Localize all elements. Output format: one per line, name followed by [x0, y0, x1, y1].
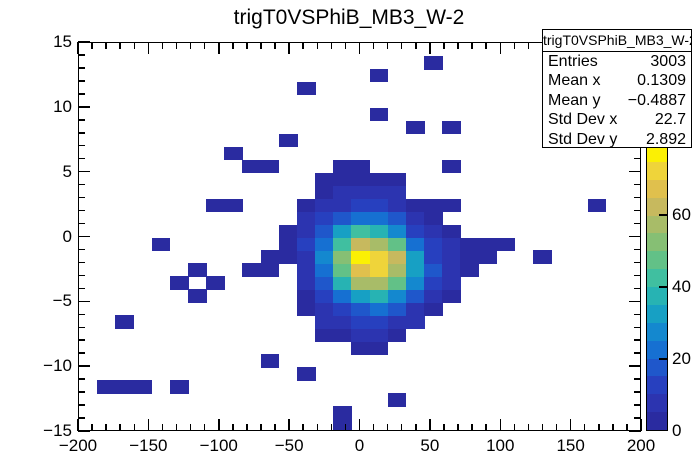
x-axis-tick-label: −100 — [184, 436, 254, 456]
heatmap-cell — [370, 276, 389, 290]
heatmap-cell — [370, 186, 389, 200]
heatmap-cell — [442, 225, 461, 239]
y-axis-minor-tick-right — [634, 314, 641, 316]
heatmap-cell — [406, 212, 425, 226]
heatmap-cell — [97, 380, 116, 394]
y-axis-minor-tick — [78, 391, 85, 393]
y-axis-minor-tick — [78, 67, 85, 69]
heatmap-cell — [442, 160, 461, 174]
x-axis-minor-tick — [317, 424, 319, 431]
heatmap-cell — [588, 199, 607, 213]
color-scale-segment — [647, 376, 667, 394]
heatmap-cell — [388, 225, 407, 239]
color-scale-segment — [647, 340, 667, 358]
heatmap-cell — [333, 276, 352, 290]
color-scale-segment — [647, 358, 667, 376]
heatmap-cell — [315, 315, 334, 329]
heatmap-cell — [460, 238, 479, 252]
heatmap-cell — [460, 250, 479, 264]
y-axis-minor-tick — [78, 93, 85, 95]
color-scale-segment — [647, 251, 667, 269]
y-axis-major-tick — [78, 236, 90, 238]
color-scale-segment — [647, 161, 667, 179]
x-axis-minor-tick — [134, 424, 136, 431]
heatmap-cell — [333, 238, 352, 252]
heatmap-cell — [424, 250, 443, 264]
x-axis-minor-tick — [457, 424, 459, 431]
heatmap-cell — [351, 289, 370, 303]
heatmap-cell — [351, 173, 370, 187]
x-axis-minor-tick-top — [528, 42, 530, 49]
heatmap-cell — [424, 302, 443, 316]
x-axis-minor-tick — [246, 424, 248, 431]
heatmap-cell — [206, 199, 225, 213]
heatmap-cell — [370, 263, 389, 277]
x-axis-tick-label: 150 — [536, 436, 606, 456]
y-axis-tick-label: 0 — [4, 227, 72, 247]
color-scale-tick-label: 60 — [672, 205, 691, 225]
heatmap-cell — [188, 289, 207, 303]
x-axis-major-tick-top — [429, 42, 431, 54]
x-axis-major-tick-top — [288, 42, 290, 54]
y-axis-minor-tick — [78, 339, 85, 341]
heatmap-cell — [388, 173, 407, 187]
stats-row-value: 22.7 — [655, 110, 686, 129]
heatmap-cell — [261, 354, 280, 368]
heatmap-cell — [442, 199, 461, 213]
x-axis-minor-tick — [345, 424, 347, 431]
x-axis-tick-label: −50 — [254, 436, 324, 456]
heatmap-cell — [442, 263, 461, 277]
heatmap-cell — [388, 250, 407, 264]
x-axis-major-tick — [218, 419, 220, 431]
y-axis-minor-tick — [78, 197, 85, 199]
heatmap-cell — [406, 289, 425, 303]
x-axis-minor-tick-top — [176, 42, 178, 49]
y-axis-minor-tick — [78, 210, 85, 212]
heatmap-cell — [279, 250, 298, 264]
heatmap-cell — [460, 263, 479, 277]
heatmap-cell — [406, 225, 425, 239]
x-axis-tick-label: 0 — [325, 436, 395, 456]
x-axis-major-tick-top — [359, 42, 361, 54]
heatmap-cell — [533, 250, 552, 264]
stats-rows: Entries3003Mean x0.1309Mean y−0.4887Std … — [543, 52, 691, 149]
page-title: trigT0VSPhiB_MB3_W-2 — [0, 6, 698, 30]
y-axis-minor-tick — [78, 314, 85, 316]
x-axis-major-tick-top — [148, 42, 150, 54]
x-axis-minor-tick — [232, 424, 234, 431]
heatmap-cell — [297, 276, 316, 290]
x-axis-minor-tick — [542, 424, 544, 431]
stats-box[interactable]: trigT0VSPhiB_MB3_W-2 Entries3003Mean x0.… — [542, 29, 692, 148]
heatmap-cell — [333, 263, 352, 277]
x-axis-major-tick-top — [218, 42, 220, 54]
x-axis-minor-tick-top — [134, 42, 136, 49]
color-scale-tick — [659, 214, 668, 216]
y-axis-minor-tick-right — [634, 184, 641, 186]
color-scale-tick-label: 0 — [672, 421, 681, 441]
stats-row-value: 0.1309 — [637, 71, 686, 90]
heatmap-cell — [351, 276, 370, 290]
x-axis-tick-label: 100 — [465, 436, 535, 456]
x-axis-major-tick — [640, 419, 642, 431]
x-axis-minor-tick-top — [317, 42, 319, 49]
heatmap-cell — [315, 263, 334, 277]
heatmap-cell — [442, 238, 461, 252]
y-axis-major-tick — [78, 430, 90, 432]
heatmap-cell — [297, 367, 316, 381]
y-axis-minor-tick — [78, 249, 85, 251]
heatmap-cell — [297, 212, 316, 226]
heatmap-cell — [333, 406, 352, 420]
x-axis-minor-tick — [584, 424, 586, 431]
heatmap-cell — [370, 225, 389, 239]
y-axis-minor-tick — [78, 80, 85, 82]
y-axis-major-tick — [78, 301, 90, 303]
stats-row: Entries3003 — [543, 52, 691, 71]
heatmap-cell — [442, 250, 461, 264]
heatmap-cell — [351, 315, 370, 329]
stats-row-value: −0.4887 — [628, 91, 686, 110]
color-scale-segment — [647, 269, 667, 287]
y-axis-major-tick — [78, 41, 90, 43]
color-scale-tick-label: 20 — [672, 349, 691, 369]
y-axis-tick-label: 15 — [4, 32, 72, 52]
x-axis-minor-tick — [331, 424, 333, 431]
y-axis-tick-label: −10 — [4, 356, 72, 376]
heatmap-cell — [133, 380, 152, 394]
y-axis-major-tick — [78, 365, 90, 367]
y-axis-minor-tick-right — [634, 262, 641, 264]
heatmap-cell — [351, 238, 370, 252]
x-axis-minor-tick — [387, 424, 389, 431]
color-scale-segment — [647, 233, 667, 251]
heatmap-cell — [206, 276, 225, 290]
heatmap-cell — [370, 315, 389, 329]
heatmap-cell — [115, 380, 134, 394]
heatmap-cell — [351, 212, 370, 226]
heatmap-cell — [333, 315, 352, 329]
heatmap-cell — [370, 302, 389, 316]
x-axis-minor-tick-top — [190, 42, 192, 49]
x-axis-minor-tick — [119, 424, 121, 431]
x-axis-minor-tick-top — [119, 42, 121, 49]
x-axis-minor-tick — [485, 424, 487, 431]
color-scale-segment — [647, 197, 667, 215]
heatmap-cell — [370, 341, 389, 355]
color-scale-segment — [647, 215, 667, 233]
x-axis-minor-tick — [91, 424, 93, 431]
y-axis-minor-tick — [78, 184, 85, 186]
x-axis-minor-tick — [443, 424, 445, 431]
x-axis-minor-tick — [260, 424, 262, 431]
heatmap-cell — [370, 238, 389, 252]
x-axis-minor-tick — [626, 424, 628, 431]
x-axis-minor-tick-top — [302, 42, 304, 49]
y-axis-major-tick-right — [629, 236, 641, 238]
heatmap-cell — [333, 212, 352, 226]
heatmap-cell — [351, 302, 370, 316]
y-axis-minor-tick-right — [634, 391, 641, 393]
heatmap-cell — [424, 212, 443, 226]
y-axis-minor-tick-right — [634, 223, 641, 225]
heatmap-cell — [388, 393, 407, 407]
heatmap-cell — [333, 328, 352, 342]
y-axis-tick-label: 5 — [4, 162, 72, 182]
heatmap-cell — [424, 225, 443, 239]
y-axis-minor-tick-right — [634, 249, 641, 251]
heatmap-cell — [315, 276, 334, 290]
x-axis-minor-tick-top — [443, 42, 445, 49]
heatmap-cell — [333, 186, 352, 200]
heatmap-cell — [370, 69, 389, 83]
heatmap-cell — [188, 263, 207, 277]
heatmap-cell — [297, 238, 316, 252]
heatmap-cell — [370, 108, 389, 122]
x-axis-minor-tick — [373, 424, 375, 431]
y-axis-minor-tick — [78, 288, 85, 290]
heatmap-cell — [424, 199, 443, 213]
heatmap-cell — [351, 199, 370, 213]
x-axis-minor-tick-top — [471, 42, 473, 49]
x-axis-minor-tick-top — [485, 42, 487, 49]
x-axis-minor-tick — [176, 424, 178, 431]
y-axis-major-tick-right — [629, 171, 641, 173]
heatmap-cell — [333, 225, 352, 239]
root-canvas: trigT0VSPhiB_MB3_W-2 −200−150−100−500501… — [0, 0, 698, 476]
y-axis-major-tick-right — [629, 430, 641, 432]
heatmap-cell — [279, 238, 298, 252]
y-axis-minor-tick — [78, 132, 85, 134]
y-axis-minor-tick-right — [634, 197, 641, 199]
heatmap-cell — [370, 289, 389, 303]
heatmap-cell — [315, 302, 334, 316]
x-axis-major-tick — [359, 419, 361, 431]
heatmap-cell — [370, 212, 389, 226]
x-axis-minor-tick — [471, 424, 473, 431]
heatmap-cell — [261, 160, 280, 174]
heatmap-cell — [370, 199, 389, 213]
heatmap-cell — [351, 186, 370, 200]
y-axis-minor-tick-right — [634, 158, 641, 160]
x-axis-minor-tick — [190, 424, 192, 431]
x-axis-minor-tick — [401, 424, 403, 431]
y-axis-minor-tick-right — [634, 327, 641, 329]
heatmap-cell — [479, 238, 498, 252]
x-axis-minor-tick — [514, 424, 516, 431]
y-axis-tick-label: −5 — [4, 291, 72, 311]
stats-row-key: Std Dev x — [548, 110, 617, 129]
heatmap-cell — [388, 186, 407, 200]
y-axis-minor-tick — [78, 404, 85, 406]
heatmap-cell — [315, 250, 334, 264]
heatmap-cell — [442, 121, 461, 135]
heatmap-cell — [315, 289, 334, 303]
y-axis-minor-tick-right — [634, 210, 641, 212]
heatmap-cell — [297, 250, 316, 264]
heatmap-cell — [297, 225, 316, 239]
y-axis-minor-tick — [78, 378, 85, 380]
heatmap-cell — [261, 250, 280, 264]
heatmap-cell — [315, 199, 334, 213]
x-axis-major-tick — [500, 419, 502, 431]
heatmap-cell — [497, 238, 516, 252]
x-axis-major-tick — [77, 419, 79, 431]
heatmap-cell — [261, 263, 280, 277]
x-axis-tick-label: 200 — [606, 436, 676, 456]
y-axis-minor-tick-right — [634, 417, 641, 419]
heatmap-cell — [351, 160, 370, 174]
stats-row: Mean x0.1309 — [543, 71, 691, 90]
x-axis-minor-tick — [162, 424, 164, 431]
x-axis-minor-tick — [204, 424, 206, 431]
heatmap-cell — [424, 238, 443, 252]
heatmap-cell — [388, 276, 407, 290]
stats-row-key: Std Dev y — [548, 130, 617, 149]
heatmap-cell — [442, 276, 461, 290]
x-axis-minor-tick-top — [232, 42, 234, 49]
stats-row-value: 2.892 — [646, 130, 686, 149]
stats-box-title: trigT0VSPhiB_MB3_W-2 — [543, 30, 691, 52]
x-axis-minor-tick-top — [415, 42, 417, 49]
y-axis-minor-tick-right — [634, 339, 641, 341]
y-axis-minor-tick-right — [634, 378, 641, 380]
heatmap-cell — [388, 199, 407, 213]
heatmap-cell — [224, 199, 243, 213]
heatmap-cell — [406, 315, 425, 329]
heatmap-cell — [315, 212, 334, 226]
x-axis-minor-tick-top — [260, 42, 262, 49]
color-scale-tick-label: 40 — [672, 277, 691, 297]
heatmap-cell — [170, 380, 189, 394]
heatmap-cell — [424, 263, 443, 277]
heatmap-cell — [315, 328, 334, 342]
x-axis-minor-tick-top — [331, 42, 333, 49]
x-axis-minor-tick — [302, 424, 304, 431]
x-axis-minor-tick-top — [401, 42, 403, 49]
stats-row-value: 3003 — [650, 52, 686, 71]
x-axis-minor-tick-top — [204, 42, 206, 49]
heatmap-cell — [224, 147, 243, 161]
heatmap-cell — [333, 302, 352, 316]
heatmap-cell — [406, 250, 425, 264]
heatmap-cell — [315, 173, 334, 187]
stats-row: Mean y−0.4887 — [543, 91, 691, 110]
y-axis-minor-tick-right — [634, 288, 641, 290]
x-axis-major-tick — [148, 419, 150, 431]
y-axis-major-tick — [78, 106, 90, 108]
heatmap-cell — [297, 263, 316, 277]
x-axis-major-tick — [288, 419, 290, 431]
x-axis-minor-tick — [612, 424, 614, 431]
color-scale-segment — [647, 394, 667, 412]
color-scale-tick — [659, 286, 668, 288]
x-axis-minor-tick-top — [91, 42, 93, 49]
stats-row-key: Mean x — [548, 71, 600, 90]
stats-row-key: Entries — [548, 52, 598, 71]
y-axis-minor-tick — [78, 262, 85, 264]
heatmap-cell — [297, 302, 316, 316]
y-axis-tick-label: 10 — [4, 97, 72, 117]
heatmap-cell — [242, 263, 261, 277]
heatmap-cell — [242, 160, 261, 174]
heatmap-cell — [424, 276, 443, 290]
heatmap-cell — [297, 289, 316, 303]
heatmap-cell — [279, 225, 298, 239]
heatmap-cell — [388, 212, 407, 226]
heatmap-cell — [297, 199, 316, 213]
heatmap-cell — [424, 56, 443, 70]
y-axis-minor-tick-right — [634, 275, 641, 277]
heatmap-cell — [351, 250, 370, 264]
heatmap-cell — [333, 289, 352, 303]
heatmap-cell — [370, 173, 389, 187]
heatmap-cell — [279, 134, 298, 148]
x-axis-major-tick-top — [500, 42, 502, 54]
heatmap-cell — [333, 173, 352, 187]
x-axis-minor-tick-top — [246, 42, 248, 49]
y-axis-minor-tick-right — [634, 404, 641, 406]
heatmap-cell — [333, 250, 352, 264]
heatmap-cell — [406, 276, 425, 290]
heatmap-cell — [333, 419, 352, 431]
heatmap-cell — [351, 341, 370, 355]
x-axis-minor-tick — [105, 424, 107, 431]
heatmap-cell — [406, 121, 425, 135]
heatmap-cell — [333, 160, 352, 174]
color-scale-segment — [647, 412, 667, 430]
heatmap-cell — [170, 276, 189, 290]
heatmap-cell — [406, 302, 425, 316]
heatmap-cell — [424, 289, 443, 303]
heatmap-cell — [315, 186, 334, 200]
color-scale-segment — [647, 304, 667, 322]
heatmap-cell — [406, 263, 425, 277]
x-axis-minor-tick-top — [162, 42, 164, 49]
heatmap-cell — [388, 263, 407, 277]
x-axis-minor-tick — [528, 424, 530, 431]
y-axis-minor-tick-right — [634, 352, 641, 354]
x-axis-tick-label: −150 — [113, 436, 183, 456]
y-axis-major-tick-right — [629, 365, 641, 367]
x-axis-major-tick — [429, 419, 431, 431]
color-scale-segment — [647, 322, 667, 340]
color-scale-segment — [647, 286, 667, 304]
stats-row: Std Dev y2.892 — [543, 130, 691, 149]
x-axis-minor-tick-top — [345, 42, 347, 49]
y-axis-minor-tick — [78, 417, 85, 419]
x-axis-minor-tick — [598, 424, 600, 431]
x-axis-minor-tick-top — [457, 42, 459, 49]
heatmap-cell — [333, 199, 352, 213]
x-axis-minor-tick-top — [387, 42, 389, 49]
heatmap-cell — [152, 238, 171, 252]
heatmap-cell — [388, 328, 407, 342]
heatmap-cell — [351, 225, 370, 239]
heatmap-cell — [315, 225, 334, 239]
stats-row: Std Dev x22.7 — [543, 110, 691, 129]
y-axis-minor-tick — [78, 54, 85, 56]
stats-row-key: Mean y — [548, 91, 600, 110]
heatmap-cell — [351, 328, 370, 342]
color-scale-segment — [647, 179, 667, 197]
y-axis-minor-tick — [78, 352, 85, 354]
heatmap-cell — [388, 289, 407, 303]
y-axis-minor-tick — [78, 275, 85, 277]
heatmap-cell — [297, 82, 316, 96]
x-axis-minor-tick — [415, 424, 417, 431]
